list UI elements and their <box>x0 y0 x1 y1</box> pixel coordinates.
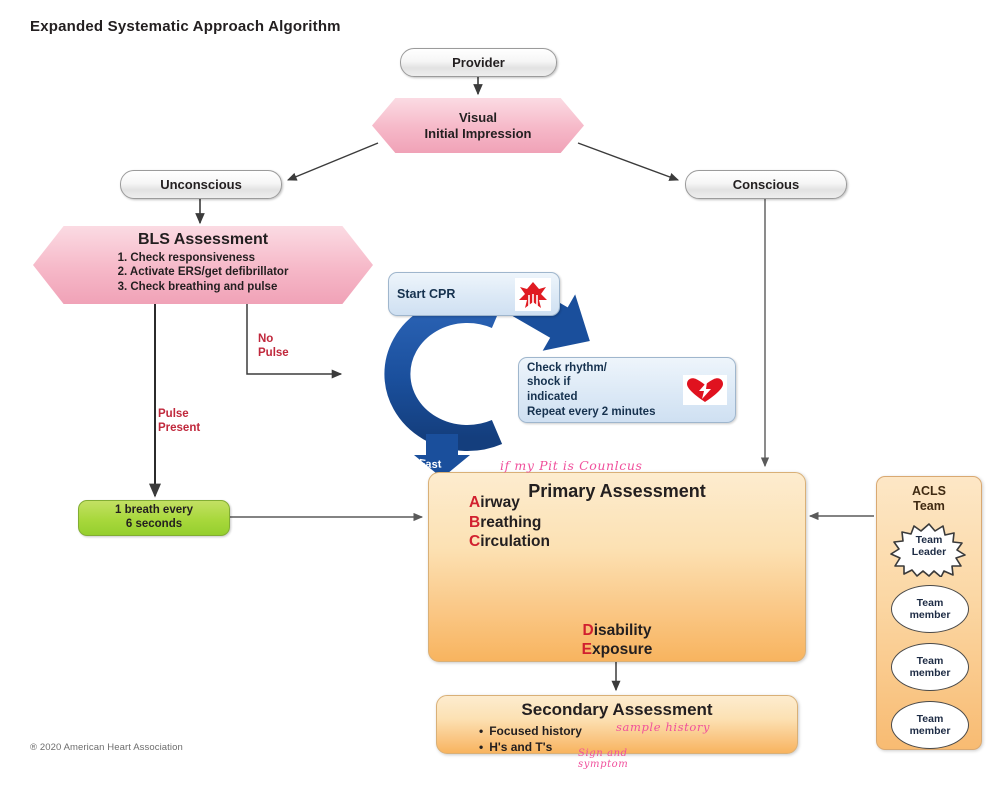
team-member-line1: Team <box>910 655 951 667</box>
bls-item-list: 1. Check responsiveness 2. Activate ERS/… <box>118 251 289 294</box>
secondary-item: H's and T's <box>479 739 582 755</box>
node-one-breath-every-6-seconds[interactable]: 1 breath every 6 seconds <box>78 500 230 536</box>
check-rhythm-line4: Repeat every 2 minutes <box>527 405 683 420</box>
node-check-rhythm[interactable]: Check rhythm/ shock if indicated Repeat … <box>518 357 736 423</box>
abc-airway-cap: A <box>469 494 480 511</box>
node-conscious[interactable]: Conscious <box>685 170 847 199</box>
check-rhythm-line1: Check rhythm/ <box>527 361 683 376</box>
cpr-hands-icon <box>515 278 551 311</box>
acls-team-title: ACLS Team <box>877 484 981 514</box>
handwritten-note-conscious: if my Pit is Counlcus <box>500 458 643 473</box>
node-provider[interactable]: Provider <box>400 48 557 77</box>
edge-label-pulse-present: Pulse Present <box>158 408 200 435</box>
bls-item: 2. Activate ERS/get defibrillator <box>118 265 289 279</box>
team-leader-label: Team Leader <box>889 534 969 559</box>
de-disability-cap: D <box>583 622 594 639</box>
visual-impression-line1: Visual <box>459 110 497 126</box>
team-member-oval[interactable]: Team member <box>891 643 969 691</box>
check-rhythm-line2: shock if <box>527 375 683 390</box>
acls-title-line1: ACLS <box>877 484 981 499</box>
team-leader-line1: Team <box>889 534 969 546</box>
no-pulse-line2: Pulse <box>258 347 289 361</box>
page-title: Expanded Systematic Approach Algorithm <box>30 18 341 35</box>
node-visual-initial-impression[interactable]: Visual Initial Impression <box>372 98 584 153</box>
abc-circulation: Circulation <box>469 532 550 552</box>
secondary-assessment-title: Secondary Assessment <box>437 700 797 720</box>
node-primary-assessment[interactable]: Primary Assessment Airway Breathing Circ… <box>428 472 806 662</box>
check-rhythm-line3: indicated <box>527 390 683 405</box>
bls-item: 3. Check breathing and pulse <box>118 280 289 294</box>
panel-acls-team[interactable]: ACLS Team Team Leader Team member Team m… <box>876 476 982 750</box>
secondary-item-list: Focused history H's and T's <box>479 723 582 755</box>
breath-line2: 6 seconds <box>115 518 193 532</box>
de-exposure: Exposure <box>429 640 805 659</box>
abc-breathing-cap: B <box>469 514 480 531</box>
abc-airway-rest: irway <box>480 494 520 511</box>
abc-breathing: Breathing <box>469 513 550 533</box>
team-member-line2: member <box>910 725 951 737</box>
edge-visual-to-unconscious <box>288 143 378 180</box>
pulse-present-line1: Pulse <box>158 408 200 422</box>
copyright-notice: ® 2020 American Heart Association <box>30 742 183 753</box>
bls-item: 1. Check responsiveness <box>118 251 289 265</box>
acls-title-line2: Team <box>877 499 981 514</box>
aed-heart-icon <box>683 375 727 405</box>
de-exposure-cap: E <box>582 641 592 658</box>
abc-breathing-rest: reathing <box>480 514 541 531</box>
visual-impression-line2: Initial Impression <box>425 126 532 142</box>
handwritten-note-sample-history: sample history <box>616 720 710 734</box>
no-pulse-line1: No <box>258 333 289 347</box>
secondary-item: Focused history <box>479 723 582 739</box>
abc-circulation-cap: C <box>469 533 480 550</box>
de-exposure-rest: xposure <box>592 641 652 658</box>
de-text-block: Disability Exposure <box>429 621 805 659</box>
de-disability: Disability <box>429 621 805 640</box>
node-bls-assessment[interactable]: BLS Assessment 1. Check responsiveness 2… <box>33 226 373 304</box>
team-member-line2: member <box>910 609 951 621</box>
abc-circulation-rest: irculation <box>480 533 550 550</box>
team-member-line1: Team <box>910 597 951 609</box>
node-unconscious-label: Unconscious <box>160 177 242 192</box>
node-provider-label: Provider <box>452 55 505 70</box>
edge-visual-to-conscious <box>578 143 678 180</box>
team-member-oval[interactable]: Team member <box>891 701 969 749</box>
team-member-line1: Team <box>910 713 951 725</box>
check-rhythm-text: Check rhythm/ shock if indicated Repeat … <box>527 361 683 420</box>
edge-label-no-pulse: No Pulse <box>258 333 289 360</box>
de-disability-rest: isability <box>594 622 652 639</box>
team-member-line2: member <box>910 667 951 679</box>
node-start-cpr[interactable]: Start CPR <box>388 272 560 316</box>
node-conscious-label: Conscious <box>733 177 799 192</box>
abc-airway: Airway <box>469 493 550 513</box>
handwritten-note-sign-symptom: Sign and symptom <box>578 748 638 770</box>
start-cpr-label: Start CPR <box>397 287 455 301</box>
node-unconscious[interactable]: Unconscious <box>120 170 282 199</box>
abc-text-block: Airway Breathing Circulation <box>469 493 550 552</box>
bls-title: BLS Assessment <box>138 231 268 249</box>
pulse-present-line2: Present <box>158 422 200 436</box>
breath-line1: 1 breath every <box>115 504 193 518</box>
team-member-oval[interactable]: Team member <box>891 585 969 633</box>
team-leader-line2: Leader <box>889 546 969 558</box>
